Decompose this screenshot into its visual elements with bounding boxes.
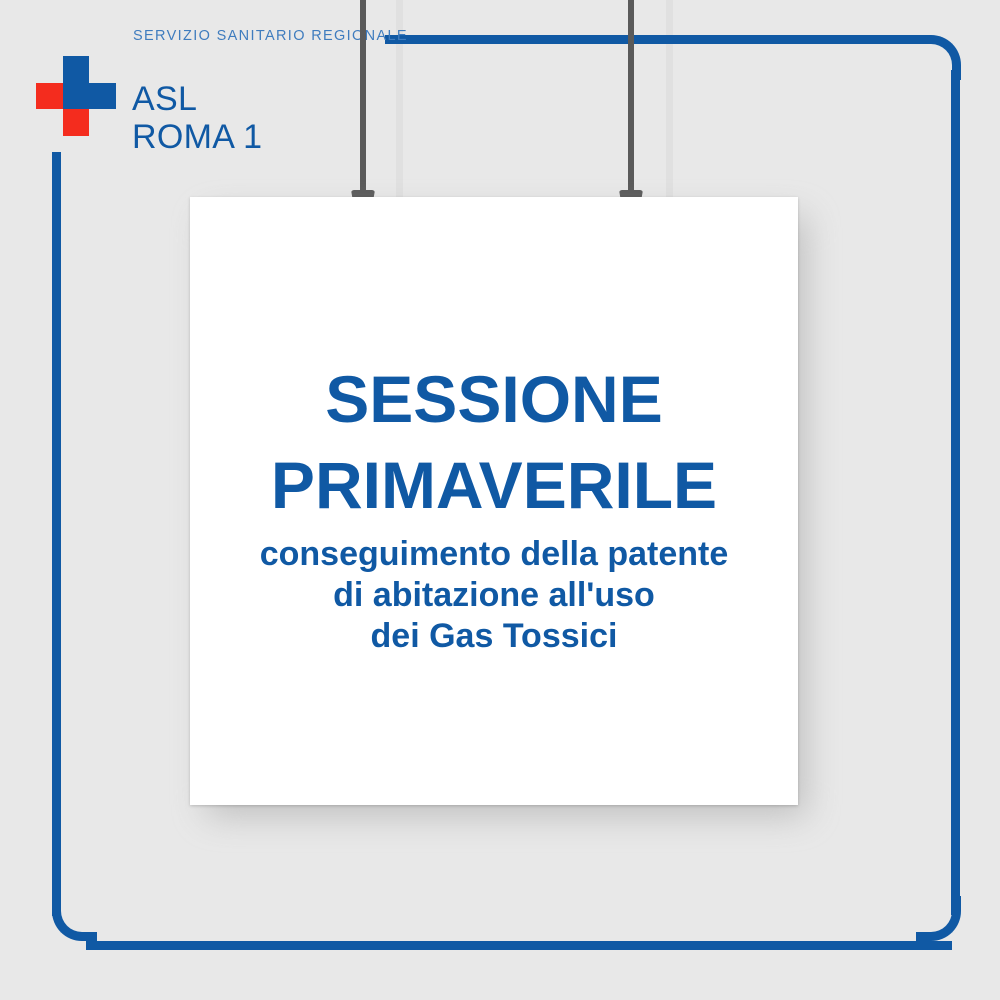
hanger-left xyxy=(352,0,376,212)
frame-edge-bottom xyxy=(86,941,952,950)
cross-cell-top xyxy=(63,56,90,83)
frame-corner-bottom-right xyxy=(916,896,961,941)
asl-roma-1-logo: SERVIZIO SANITARIO REGIONALE ASL ROMA 1 xyxy=(28,24,378,154)
poster-card: SESSIONE PRIMAVERILE conseguimento della… xyxy=(190,197,798,805)
medical-cross-icon xyxy=(36,56,116,136)
cross-cell-bottom xyxy=(63,109,90,136)
frame-edge-top xyxy=(385,35,925,44)
poster-content: SESSIONE PRIMAVERILE conseguimento della… xyxy=(190,197,798,805)
hanger-right xyxy=(620,0,644,212)
cross-cell-center xyxy=(63,83,90,110)
cross-cell-right xyxy=(89,83,116,110)
poster-scene: SERVIZIO SANITARIO REGIONALE ASL ROMA 1 … xyxy=(0,0,1000,1000)
poster-title: SESSIONE PRIMAVERILE xyxy=(271,356,717,528)
cross-cell-left xyxy=(36,83,63,110)
logo-organization-name: ASL ROMA 1 xyxy=(132,80,262,156)
hanger-string-right xyxy=(628,0,634,192)
hanger-string-left xyxy=(360,0,366,192)
frame-edge-right xyxy=(951,70,960,915)
frame-edge-left xyxy=(52,152,61,916)
poster-subtitle: conseguimento della patente di abitazion… xyxy=(260,534,729,657)
